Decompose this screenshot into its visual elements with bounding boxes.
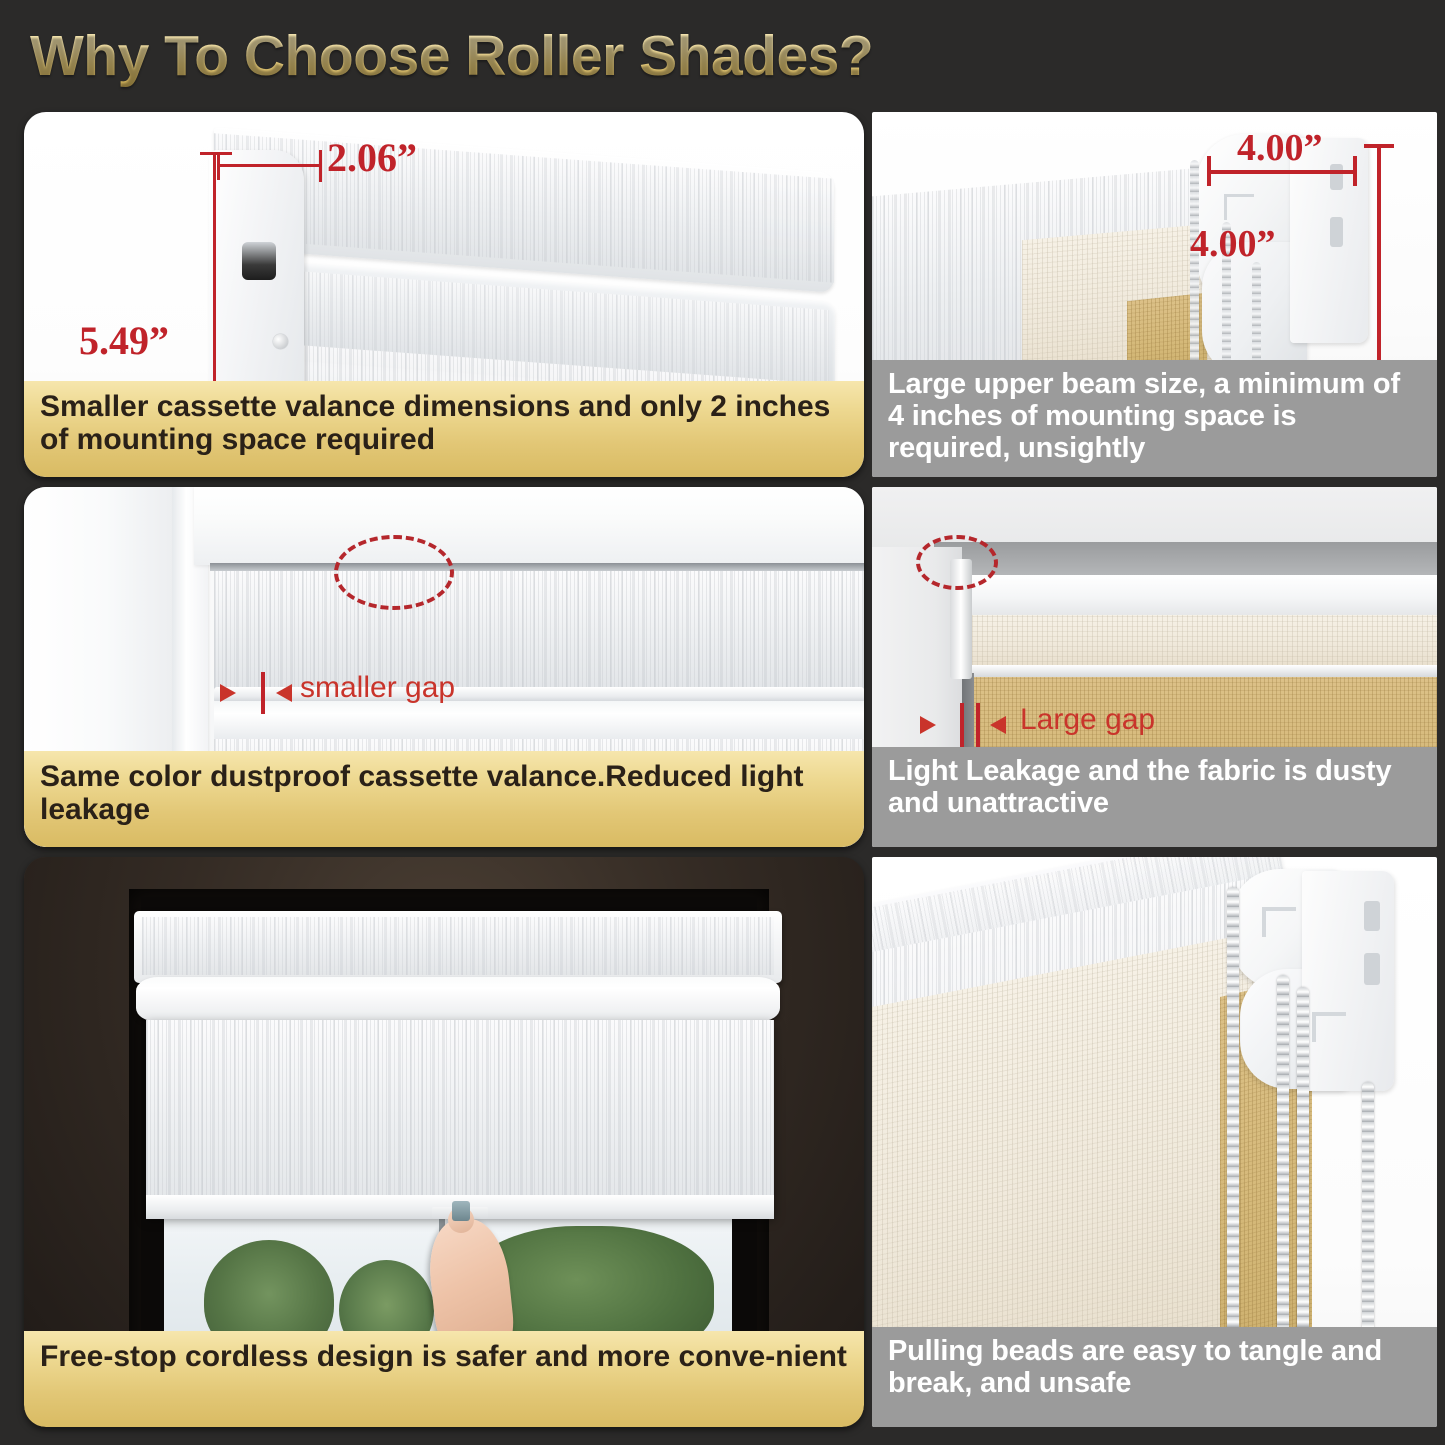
smaller-gap-label: smaller gap [300,671,455,705]
mounting-slot-2-icon [1330,217,1343,247]
room-shade-fabric [146,1020,774,1216]
bracket-logo-icon [1224,194,1254,220]
room-shade-roll [136,977,780,1022]
room-shade-cassette [134,911,782,983]
panel-large-upper-beam: 4.00” 4.00” Large upper beam size, a min… [872,112,1437,477]
beads-mounting-plate [1302,871,1394,1091]
window-frame-top [194,487,864,565]
dustproof-valance-photo: smaller gap Same color dustproof cassett… [24,487,864,847]
caption-cordless-design: Free-stop cordless design is safer and m… [24,1331,864,1427]
page-header: Why To Choose Roller Shades? [0,0,1445,112]
beads-mount-slot-2-icon [1364,953,1380,985]
caption-dustproof-valance: Same color dustproof cassette valance.Re… [24,751,864,847]
cassette-dimensions-photo: 2.06” 5.49” Smaller cassette valance dim… [24,112,864,477]
page-title: Why To Choose Roller Shades? [30,23,873,89]
pulling-beads-photo: Pulling beads are easy to tangle and bre… [872,857,1437,1427]
beam-width-tick-right [1353,156,1357,186]
large-gap-arrow-right-icon [990,716,1006,734]
smaller-gap-arrow-left-icon [220,684,236,702]
gap-highlight-ellipse-main [334,535,454,610]
valance-bottom-lip [940,665,1437,677]
panel-pulling-beads: Pulling beads are easy to tangle and bre… [872,857,1437,1427]
large-gap-label: Large gap [1020,703,1155,737]
height-dim-tick-top [200,152,232,155]
pull-handle-icon [452,1201,470,1221]
beam-width-dim-line [1207,170,1357,174]
panel-cordless-design: Free-stop cordless design is safer and m… [24,857,864,1427]
beam-width-label: 4.00” [1237,126,1323,170]
beam-height-tick-top [1364,144,1394,148]
end-cap-screw-icon [273,334,288,349]
comparison-grid: 2.06” 5.49” Smaller cassette valance dim… [0,112,1445,1427]
beam-width-tick-left [1207,156,1211,186]
smaller-gap-arrow-right-icon [276,684,292,702]
width-dim-line [217,164,322,167]
beam-height-label: 4.00” [1190,222,1276,266]
beads-bracket-logo-icon [1262,907,1296,937]
panel-dustproof-valance: smaller gap Same color dustproof cassett… [24,487,864,847]
head-rail [934,575,1437,619]
pull-bead-chain-1 [1227,887,1239,1392]
large-gap-marker-2 [976,703,980,747]
caption-cassette-dimensions: Smaller cassette valance dimensions and … [24,381,864,477]
large-upper-beam-photo: 4.00” 4.00” Large upper beam size, a min… [872,112,1437,477]
large-gap-arrow-left-icon [920,716,936,734]
beads-mount-slot-1-icon [1364,901,1380,931]
width-dim-tick-right [319,150,322,182]
width-dimension-label: 2.06” [327,134,417,181]
mounting-slot-1-icon [1330,164,1343,190]
end-cap-slot-icon [242,242,276,280]
caption-pulling-beads: Pulling beads are easy to tangle and bre… [872,1327,1437,1427]
panel-light-leakage: Large gap Light Leakage and the fabric i… [872,487,1437,847]
cassette-top-edge [210,563,864,571]
light-leakage-photo: Large gap Light Leakage and the fabric i… [872,487,1437,847]
height-dimension-label: 5.49” [79,317,169,364]
smaller-gap-marker [261,672,265,714]
caption-light-leakage: Light Leakage and the fabric is dusty an… [872,747,1437,847]
caption-large-upper-beam: Large upper beam size, a minimum of 4 in… [872,360,1437,477]
width-dim-tick-left [217,152,220,180]
shade-shadow-band [934,542,1437,578]
panel-cassette-dimensions: 2.06” 5.49” Smaller cassette valance dim… [24,112,864,477]
roller-tube [214,701,864,743]
leak-highlight-ellipse [916,535,998,590]
large-gap-marker-1 [960,703,964,747]
cordless-design-photo: Free-stop cordless design is safer and m… [24,857,864,1427]
valance-cream-band [942,615,1437,667]
beads-bracket-logo-2-icon [1312,1012,1346,1042]
